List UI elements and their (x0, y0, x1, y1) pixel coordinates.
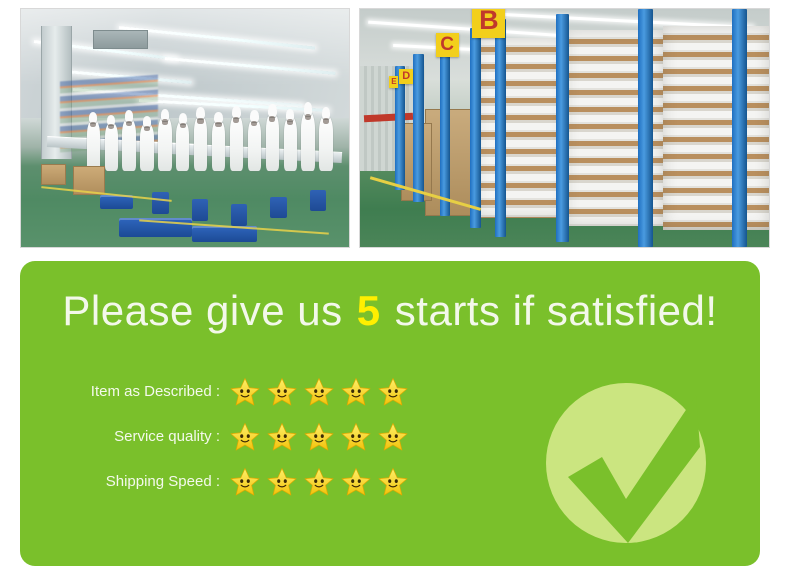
worker (176, 120, 189, 171)
star-icon[interactable] (378, 467, 408, 497)
headline-rating-number: 5 (355, 287, 383, 334)
star-icon[interactable] (230, 467, 260, 497)
rating-rows: Item as Described : Service quality : (58, 369, 488, 504)
stool (192, 199, 208, 220)
worker (194, 115, 207, 171)
worker (301, 111, 314, 171)
photo-strip: B C D E (20, 8, 770, 248)
rack-upright (440, 40, 451, 216)
worker (248, 118, 261, 171)
headline-before: Please give us (62, 287, 342, 334)
star-icon[interactable] (230, 377, 260, 407)
stool (270, 197, 286, 218)
star-icon[interactable] (304, 422, 334, 452)
carton-box (41, 164, 66, 185)
stool (310, 190, 326, 211)
star-icon[interactable] (341, 377, 371, 407)
warehouse-scene: B C D E (360, 9, 769, 247)
rating-label: Shipping Speed : (58, 473, 230, 490)
star-icon[interactable] (378, 377, 408, 407)
star-icon[interactable] (341, 467, 371, 497)
star-icon[interactable] (304, 377, 334, 407)
worker (230, 114, 243, 171)
worker (87, 119, 100, 171)
rating-label: Service quality : (58, 428, 230, 445)
rack-upright (413, 54, 424, 202)
worker-row (87, 104, 343, 171)
feedback-headline: Please give us 5 starts if satisfied! (20, 287, 760, 335)
ceiling-duct (93, 30, 147, 49)
rack-upright (638, 9, 653, 247)
headline-after: starts if satisfied! (395, 287, 718, 334)
check-icon (540, 373, 720, 553)
worker (140, 123, 153, 171)
rating-row-item-as-described: Item as Described : (58, 369, 488, 414)
aisle-sign-b: B (472, 8, 505, 38)
worker (122, 118, 135, 171)
rack-upright (732, 9, 747, 247)
feedback-banner-page: B C D E Please give us 5 starts if satis… (0, 0, 790, 584)
rack-upright (495, 19, 506, 238)
worker (266, 112, 279, 171)
rack-upright (556, 14, 569, 242)
feedback-panel: Please give us 5 starts if satisfied! It… (20, 261, 760, 566)
stool (231, 204, 247, 225)
worker (105, 122, 118, 171)
rating-row-service-quality: Service quality : (58, 414, 488, 459)
rating-label: Item as Described : (58, 383, 230, 400)
star-rating-service-quality[interactable] (230, 422, 408, 452)
shelf-section (475, 38, 565, 219)
star-icon[interactable] (267, 377, 297, 407)
star-icon[interactable] (267, 467, 297, 497)
photo-warehouse-storage-racks: B C D E (359, 8, 770, 248)
worker (284, 116, 297, 171)
star-rating-item-as-described[interactable] (230, 377, 408, 407)
star-icon[interactable] (230, 422, 260, 452)
aisle-sign-c: C (436, 33, 459, 57)
factory-scene (21, 9, 349, 247)
aisle-sign-e: E (389, 76, 398, 88)
worker (212, 119, 225, 171)
rack-upright (470, 28, 481, 228)
star-icon[interactable] (304, 467, 334, 497)
star-icon[interactable] (267, 422, 297, 452)
star-icon[interactable] (341, 422, 371, 452)
aisle-sign-d: D (399, 69, 413, 84)
star-rating-shipping-speed[interactable] (230, 467, 408, 497)
star-icon[interactable] (378, 422, 408, 452)
check-mark-badge (540, 373, 720, 553)
photo-factory-production-line (20, 8, 350, 248)
worker (319, 115, 332, 171)
rating-row-shipping-speed: Shipping Speed : (58, 459, 488, 504)
shelf-section (663, 26, 769, 231)
stool (152, 192, 168, 213)
worker (158, 116, 171, 171)
